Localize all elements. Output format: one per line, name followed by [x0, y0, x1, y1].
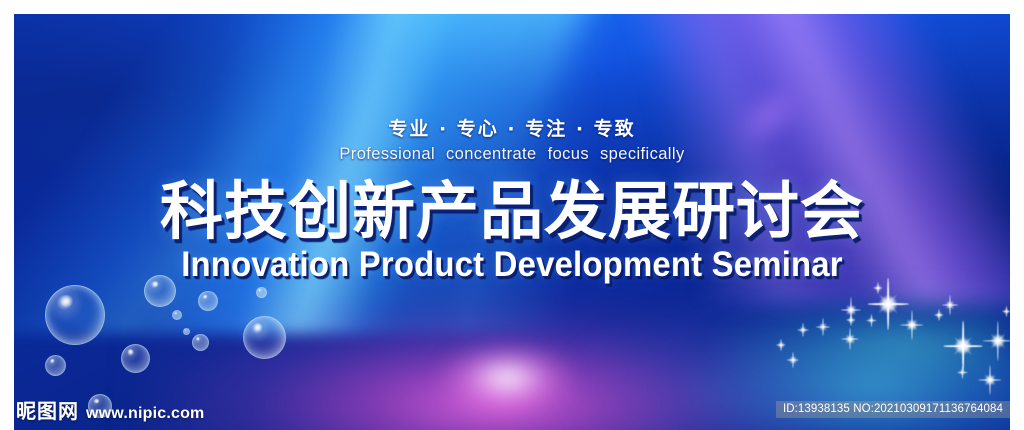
banner-root: 专业 · 专心 · 专注 · 专致 Professional concentra…	[0, 0, 1024, 430]
title-chinese: 科技创新产品发展研讨会	[14, 180, 1010, 244]
bubble-mid-center	[198, 291, 218, 311]
star-mid-c	[839, 328, 861, 350]
star-small-a	[814, 318, 832, 336]
bubble-small-left	[45, 355, 66, 376]
star-bright-c	[978, 321, 1010, 361]
star-small-c	[845, 314, 857, 326]
bubble-large-center	[243, 316, 286, 359]
poster-canvas: 专业 · 专心 · 专注 · 专致 Professional concentra…	[14, 14, 1010, 430]
bubble-medium-lower	[121, 344, 150, 373]
bubble-large-left	[45, 285, 105, 345]
star-small-j	[1001, 306, 1011, 317]
title-english: Innovation Product Development Seminar	[44, 245, 980, 285]
star-mid-e	[975, 365, 1005, 395]
bubble-tiny-a	[172, 310, 182, 320]
star-small-b	[796, 323, 810, 337]
slogan-english: Professional concentrate focus specifica…	[14, 145, 1010, 164]
star-mid-a	[897, 310, 927, 340]
image-id-badge: ID:13938135 NO:20210309171136764084	[776, 401, 1010, 418]
bubble-tiny-b	[183, 328, 190, 335]
bubble-tiny-c	[256, 287, 267, 298]
nipic-logo-text: 昵图网	[16, 395, 79, 424]
brand-watermark: 昵图网 www.nipic.com	[16, 395, 204, 424]
slogan-chinese: 专业 · 专心 · 专注 · 专致	[14, 118, 1010, 142]
star-small-g	[785, 352, 801, 368]
star-small-d	[865, 314, 878, 327]
star-small-f	[933, 309, 945, 321]
nipic-url-text: www.nipic.com	[86, 405, 204, 423]
poster-text-block: 专业 · 专心 · 专注 · 专致 Professional concentra…	[14, 118, 1010, 285]
star-small-i	[956, 366, 969, 379]
bubble-small-center	[192, 334, 209, 351]
star-small-h	[775, 339, 787, 351]
